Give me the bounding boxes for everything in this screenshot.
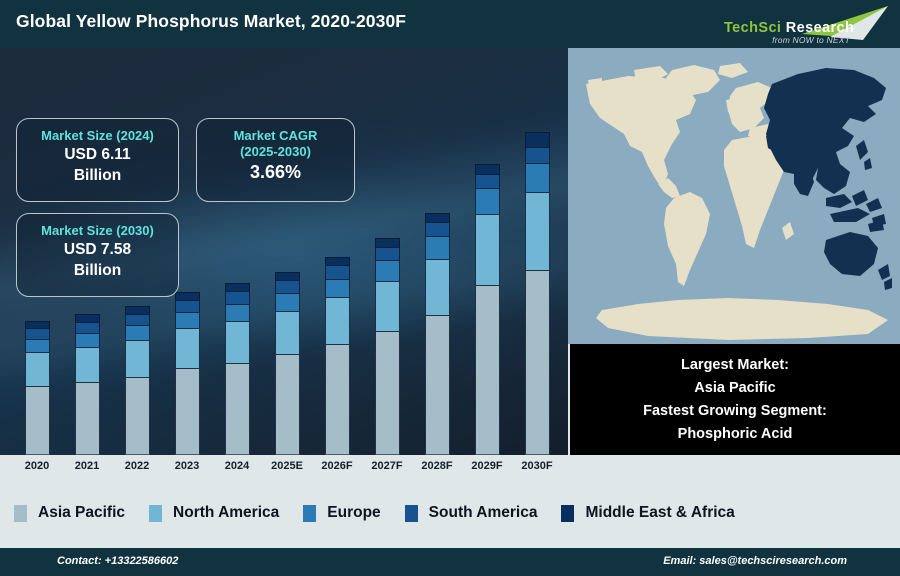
- bar-segment-south-america: [325, 265, 350, 278]
- legend-swatch: [303, 505, 316, 522]
- bar-segment-north-america: [175, 328, 200, 368]
- bar-segment-asia-pacific: [375, 331, 400, 455]
- bar-segment-north-america: [525, 192, 550, 270]
- bar-segment-south-america: [175, 300, 200, 312]
- bar-segment-asia-pacific: [25, 386, 50, 455]
- bar-segment-asia-pacific: [325, 344, 350, 455]
- bar-segment-south-america: [475, 174, 500, 188]
- footer-email: Email: sales@techsciresearch.com: [663, 555, 847, 567]
- bar-segment-north-america: [475, 214, 500, 285]
- bar-segment-middle-east-africa: [175, 292, 200, 301]
- bar-segment-asia-pacific: [475, 285, 500, 455]
- bar-segment-europe: [75, 333, 100, 347]
- x-tick-2028F: 2028F: [412, 460, 462, 472]
- highlights-box: Largest Market: Asia Pacific Fastest Gro…: [570, 344, 900, 455]
- techsci-research-logo: TechSci Research from NOW to NEXT: [710, 4, 888, 44]
- legend-label: Asia Pacific: [38, 504, 125, 522]
- bar-2021: [75, 314, 100, 455]
- legend-item-south-america[interactable]: South America: [405, 504, 538, 522]
- stat-card-label: Market Size (2024): [17, 128, 178, 144]
- bar-segment-north-america: [375, 281, 400, 332]
- stat-card-label-line1: Market CAGR: [197, 128, 354, 144]
- bar-segment-south-america: [375, 247, 400, 261]
- bar-segment-europe: [225, 304, 250, 321]
- x-tick-2029F: 2029F: [462, 460, 512, 472]
- bar-segment-north-america: [75, 347, 100, 382]
- bar-segment-north-america: [275, 311, 300, 355]
- legend-swatch: [405, 505, 418, 522]
- bar-2020: [25, 321, 50, 455]
- bar-segment-south-america: [75, 322, 100, 333]
- bar-segment-europe: [25, 339, 50, 352]
- footer-bar: Contact: +13322586602 Email: sales@techs…: [0, 548, 900, 576]
- logo-wordmark-research: Research: [781, 20, 854, 36]
- bar-segment-middle-east-africa: [425, 213, 450, 222]
- stat-card-value: USD 7.58: [17, 239, 178, 260]
- stat-card-market-cagr: Market CAGR (2025-2030) 3.66%: [196, 118, 355, 202]
- bar-2022: [125, 306, 150, 455]
- largest-market-value: Asia Pacific: [694, 377, 775, 400]
- bar-segment-europe: [325, 279, 350, 298]
- bar-segment-middle-east-africa: [325, 257, 350, 266]
- bar-2025E: [275, 272, 300, 455]
- bar-segment-europe: [425, 236, 450, 258]
- x-tick-2030F: 2030F: [512, 460, 562, 472]
- x-tick-2022: 2022: [112, 460, 162, 472]
- bar-segment-south-america: [525, 147, 550, 163]
- x-tick-2020: 2020: [12, 460, 62, 472]
- bar-2026F: [325, 257, 350, 455]
- bar-segment-europe: [175, 312, 200, 328]
- x-tick-2027F: 2027F: [362, 460, 412, 472]
- bar-segment-middle-east-africa: [225, 283, 250, 292]
- bar-segment-middle-east-africa: [525, 132, 550, 146]
- legend-label: South America: [429, 504, 538, 522]
- stat-card-market-size-2024: Market Size (2024) USD 6.11 Billion: [16, 118, 179, 202]
- stat-card-label-line2: (2025-2030): [197, 144, 354, 160]
- bar-segment-asia-pacific: [125, 377, 150, 455]
- legend-swatch: [149, 505, 162, 522]
- x-tick-2024: 2024: [212, 460, 262, 472]
- x-tick-2023: 2023: [162, 460, 212, 472]
- bar-segment-asia-pacific: [175, 368, 200, 455]
- bar-2028F: [425, 213, 450, 455]
- fastest-segment-value: Phosphoric Acid: [678, 423, 793, 446]
- chart-panel: Market Size (2024) USD 6.11 Billion Mark…: [0, 48, 568, 455]
- bar-segment-asia-pacific: [525, 270, 550, 455]
- bar-segment-middle-east-africa: [25, 321, 50, 329]
- legend-item-europe[interactable]: Europe: [303, 504, 380, 522]
- bar-segment-north-america: [125, 340, 150, 377]
- footer-contact: Contact: +13322586602: [57, 555, 178, 567]
- bar-segment-south-america: [25, 328, 50, 339]
- bar-segment-north-america: [425, 259, 450, 315]
- bar-2030F: [525, 132, 550, 455]
- legend-swatch: [561, 505, 574, 522]
- legend-item-middle-east-africa[interactable]: Middle East & Africa: [561, 504, 734, 522]
- stat-card-label: Market Size (2030): [17, 223, 178, 239]
- bar-segment-europe: [125, 325, 150, 340]
- largest-market-label: Largest Market:: [681, 354, 789, 377]
- world-map: [568, 48, 900, 344]
- fastest-segment-label: Fastest Growing Segment:: [643, 400, 827, 423]
- bar-segment-europe: [275, 293, 300, 311]
- bar-segment-south-america: [275, 280, 300, 293]
- stat-card-unit: Billion: [17, 260, 178, 281]
- logo-wordmark: TechSci Research: [724, 20, 854, 36]
- bar-2027F: [375, 238, 400, 455]
- legend-label: Europe: [327, 504, 380, 522]
- bar-segment-middle-east-africa: [75, 314, 100, 322]
- logo-wordmark-techsci: TechSci: [724, 20, 781, 36]
- page-title: Global Yellow Phosphorus Market, 2020-20…: [16, 11, 406, 32]
- world-map-svg: [568, 48, 900, 344]
- bar-segment-middle-east-africa: [475, 164, 500, 173]
- bar-segment-europe: [375, 260, 400, 280]
- bar-segment-middle-east-africa: [275, 272, 300, 280]
- bar-segment-europe: [525, 163, 550, 192]
- chart-legend: Asia PacificNorth AmericaEuropeSouth Ame…: [0, 481, 900, 545]
- bar-segment-south-america: [425, 222, 450, 236]
- bar-segment-asia-pacific: [275, 354, 300, 455]
- bar-segment-middle-east-africa: [375, 238, 400, 247]
- legend-item-asia-pacific[interactable]: Asia Pacific: [14, 504, 125, 522]
- bar-2024: [225, 283, 250, 455]
- logo-tagline: from NOW to NEXT: [772, 35, 850, 45]
- bar-segment-south-america: [125, 314, 150, 326]
- legend-label: Middle East & Africa: [585, 504, 734, 522]
- bar-segment-north-america: [325, 297, 350, 344]
- stat-card-value: USD 6.11: [17, 144, 178, 165]
- stat-card-unit: Billion: [17, 165, 178, 186]
- bar-segment-asia-pacific: [225, 363, 250, 455]
- stat-card-value: 3.66%: [197, 160, 354, 183]
- stat-card-market-size-2030: Market Size (2030) USD 7.58 Billion: [16, 213, 179, 297]
- x-axis-tick-labels: 202020212022202320242025E2026F2027F2028F…: [0, 455, 568, 481]
- bar-segment-north-america: [25, 352, 50, 386]
- x-tick-2026F: 2026F: [312, 460, 362, 472]
- bar-segment-asia-pacific: [75, 382, 100, 455]
- infographic-page: Global Yellow Phosphorus Market, 2020-20…: [0, 0, 900, 576]
- legend-swatch: [14, 505, 27, 522]
- bar-segment-south-america: [225, 291, 250, 303]
- bar-segment-north-america: [225, 321, 250, 363]
- legend-label: North America: [173, 504, 279, 522]
- bar-segment-middle-east-africa: [125, 306, 150, 314]
- bar-2023: [175, 292, 200, 455]
- x-tick-2025E: 2025E: [262, 460, 312, 472]
- legend-item-north-america[interactable]: North America: [149, 504, 279, 522]
- x-tick-2021: 2021: [62, 460, 112, 472]
- bar-segment-asia-pacific: [425, 315, 450, 455]
- bar-segment-europe: [475, 188, 500, 214]
- bar-2029F: [475, 164, 500, 455]
- header-bar: Global Yellow Phosphorus Market, 2020-20…: [0, 0, 900, 48]
